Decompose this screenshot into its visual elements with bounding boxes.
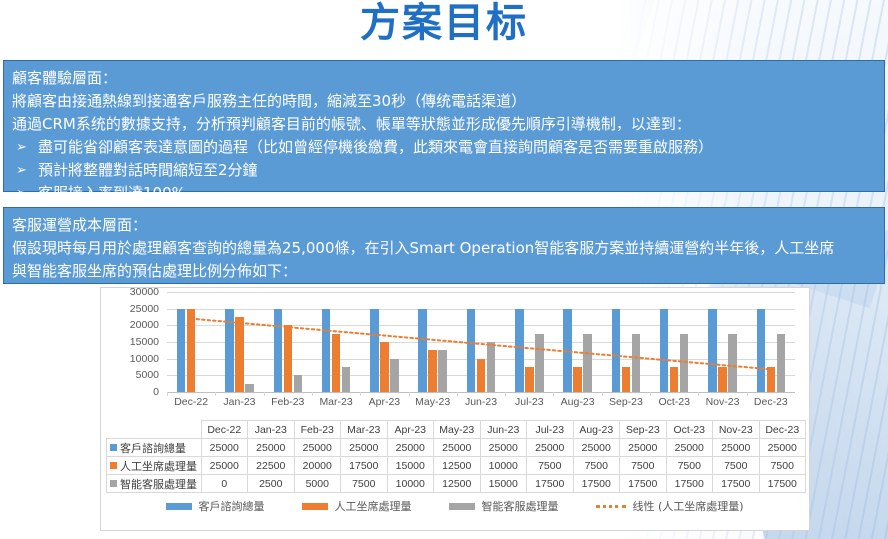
table-cell: 17500 xyxy=(341,457,388,475)
chart-bar xyxy=(612,309,621,392)
chart-x-axis-labels: Dec-22Jan-23Feb-23Mar-23Apr-23May-23Jun-… xyxy=(167,396,795,410)
chart-bar xyxy=(342,367,351,392)
operating-cost-line-1: 假設現時每月用於處理顧客查詢的總量為25,000條，在引入Smart Opera… xyxy=(12,237,876,260)
chart-plot-area: 050001000015000200002500030000 xyxy=(101,292,809,404)
table-cell: 7500 xyxy=(341,475,388,493)
table-column-header: Aug-23 xyxy=(573,421,620,439)
legend-item-label: 智能客服處理量 xyxy=(481,498,558,514)
table-cell: 25000 xyxy=(341,439,388,457)
chart-bar xyxy=(680,334,689,392)
table-cell: 7500 xyxy=(759,457,806,475)
chart-bar xyxy=(390,359,399,392)
table-cell: 17500 xyxy=(620,475,667,493)
y-axis-tick-label: 10000 xyxy=(130,353,159,365)
arrow-bullet-icon: ➢ xyxy=(12,159,38,182)
table-row: 客戶諮詢總量2500025000250002500025000250002500… xyxy=(107,439,806,457)
chart-bar xyxy=(670,367,679,392)
chart-data-table: Dec-22Jan-23Feb-23Mar-23Apr-23May-23Jun-… xyxy=(106,420,806,493)
series-color-swatch-icon xyxy=(110,462,117,469)
chart-data-table-body: Dec-22Jan-23Feb-23Mar-23Apr-23May-23Jun-… xyxy=(107,421,806,493)
customer-experience-bullet-1-label: 盡可能省卻顧客表達意圖的過程（比如曾經停機後繳費，此類來電會直接詢問顧客是否需要… xyxy=(38,136,713,159)
table-cell: 15000 xyxy=(480,475,527,493)
customer-experience-line-1: 將顧客由接通熱線到接通客戶服務主任的時間，縮減至30秒（傳统電話渠道） xyxy=(12,90,876,113)
chart-category-group xyxy=(360,292,408,392)
table-cell: 25000 xyxy=(434,439,481,457)
customer-experience-box: 顧客體驗層面： 將顧客由接通熱線到接通客戶服務主任的時間，縮減至30秒（傳统電話… xyxy=(3,60,885,192)
legend-dotted-line-icon xyxy=(596,505,626,508)
table-column-header: Feb-23 xyxy=(294,421,341,439)
table-column-header: Oct-23 xyxy=(666,421,713,439)
table-cell: 25000 xyxy=(713,439,760,457)
table-cell: 17500 xyxy=(666,475,713,493)
chart-bar xyxy=(225,309,234,392)
x-axis-tick-label: Jul-23 xyxy=(505,396,553,408)
operating-cost-line-2: 與智能客服坐席的預估處理比例分佈如下： xyxy=(12,260,876,283)
table-cell: 25000 xyxy=(294,439,341,457)
arrow-bullet-icon: ➢ xyxy=(12,182,38,205)
chart-category-group xyxy=(505,292,553,392)
x-axis-tick-label: Feb-23 xyxy=(264,396,312,408)
customer-experience-heading: 顧客體驗層面： xyxy=(12,67,876,90)
x-axis-tick-label: May-23 xyxy=(409,396,457,408)
legend-item-label: 客戶諮詢總量 xyxy=(198,498,264,514)
table-cell: 10000 xyxy=(387,475,434,493)
chart-category-group xyxy=(698,292,746,392)
table-column-header: Dec-23 xyxy=(759,421,806,439)
y-axis-tick-label: 20000 xyxy=(130,319,159,331)
table-cell: 25000 xyxy=(759,439,806,457)
customer-experience-bullet-2-label: 預計將整體對話時間縮短至2分鐘 xyxy=(38,159,258,182)
legend-item[interactable]: 智能客服處理量 xyxy=(449,498,558,514)
chart-bar xyxy=(515,309,524,392)
chart-bar xyxy=(467,309,476,392)
chart-bar xyxy=(438,350,447,392)
table-cell: 25000 xyxy=(620,439,667,457)
table-cell: 25000 xyxy=(201,439,248,457)
chart-bar xyxy=(535,334,544,392)
table-cell: 7500 xyxy=(527,457,574,475)
chart-bar xyxy=(187,309,196,392)
x-axis-tick-label: Oct-23 xyxy=(650,396,698,408)
chart-category-group xyxy=(602,292,650,392)
chart-category-group xyxy=(409,292,457,392)
chart-bar xyxy=(767,367,776,392)
legend-item-label: 线性 (人工坐席處理量) xyxy=(632,498,743,514)
table-cell: 5000 xyxy=(294,475,341,493)
table-cell: 17500 xyxy=(713,475,760,493)
chart-category-group xyxy=(167,292,215,392)
table-cell: 12500 xyxy=(434,475,481,493)
table-cell: 17500 xyxy=(573,475,620,493)
table-cell: 7500 xyxy=(573,457,620,475)
series-color-swatch-icon xyxy=(110,480,117,487)
table-cell: 2500 xyxy=(248,475,295,493)
chart-bar xyxy=(235,317,244,392)
table-column-header: Dec-22 xyxy=(201,421,248,439)
chart-y-axis: 050001000015000200002500030000 xyxy=(101,292,163,392)
table-cell: 25000 xyxy=(201,457,248,475)
table-cell: 7500 xyxy=(713,457,760,475)
legend-color-key-icon xyxy=(166,503,192,510)
table-cell: 25000 xyxy=(480,439,527,457)
table-column-header: Sep-23 xyxy=(620,421,667,439)
table-row-label: 智能客服處理量 xyxy=(120,478,197,491)
table-cell: 17500 xyxy=(759,475,806,493)
x-axis-tick-label: Jan-23 xyxy=(215,396,263,408)
legend-item[interactable]: 客戶諮詢總量 xyxy=(166,498,264,514)
table-column-header: Mar-23 xyxy=(341,421,388,439)
chart-bar xyxy=(245,384,254,392)
table-column-header: Jun-23 xyxy=(480,421,527,439)
chart-bar xyxy=(284,325,293,392)
chart-category-group xyxy=(747,292,795,392)
page-title: 方案目标 xyxy=(0,0,888,52)
table-column-header: Apr-23 xyxy=(387,421,434,439)
x-axis-tick-label: Nov-23 xyxy=(698,396,746,408)
chart-bar xyxy=(660,309,669,392)
chart-bar xyxy=(777,334,786,392)
table-row-label: 客戶諮詢總量 xyxy=(120,442,186,455)
y-axis-tick-label: 15000 xyxy=(130,336,159,348)
chart-bar xyxy=(477,359,486,392)
chart-bar xyxy=(708,309,717,392)
table-column-header: Jan-23 xyxy=(248,421,295,439)
chart-category-group xyxy=(457,292,505,392)
operating-cost-box: 客服運營成本層面： 假設現時每月用於處理顧客查詢的總量為25,000條，在引入S… xyxy=(3,207,885,284)
x-axis-tick-label: Mar-23 xyxy=(312,396,360,408)
chart-bar xyxy=(563,309,572,392)
table-cell: 25000 xyxy=(573,439,620,457)
y-axis-tick-label: 5000 xyxy=(136,369,159,381)
table-row-label: 人工坐席處理量 xyxy=(120,460,197,473)
table-row-header: 客戶諮詢總量 xyxy=(107,439,202,457)
table-cell: 10000 xyxy=(480,457,527,475)
table-header-row: Dec-22Jan-23Feb-23Mar-23Apr-23May-23Jun-… xyxy=(107,421,806,439)
table-cell: 25000 xyxy=(527,439,574,457)
y-axis-tick-label: 0 xyxy=(153,386,159,398)
chart-bar xyxy=(418,309,427,392)
customer-experience-bullet-1: ➢ 盡可能省卻顧客表達意圖的過程（比如曾經停機後繳費，此類來電會直接詢問顧客是否… xyxy=(12,136,876,159)
table-column-header: May-23 xyxy=(434,421,481,439)
chart-bar xyxy=(525,367,534,392)
operating-cost-heading: 客服運營成本層面： xyxy=(12,214,876,237)
x-axis-tick-label: Sep-23 xyxy=(602,396,650,408)
chart-bar xyxy=(177,309,186,392)
chart-panel[interactable]: 050001000015000200002500030000 Dec-22Jan… xyxy=(100,287,810,531)
legend-item-trendline[interactable]: 线性 (人工坐席處理量) xyxy=(596,498,743,514)
chart-category-group xyxy=(264,292,312,392)
table-row: 智能客服處理量025005000750010000125001500017500… xyxy=(107,475,806,493)
chart-bar xyxy=(294,375,303,392)
table-cell: 25000 xyxy=(387,439,434,457)
chart-legend: 客戶諮詢總量人工坐席處理量智能客服處理量线性 (人工坐席處理量) xyxy=(101,496,809,516)
x-axis-tick-label: Dec-23 xyxy=(747,396,795,408)
table-cell: 12500 xyxy=(434,457,481,475)
chart-bar xyxy=(632,334,641,392)
x-axis-tick-label: Apr-23 xyxy=(360,396,408,408)
y-axis-tick-label: 25000 xyxy=(130,303,159,315)
table-column-header: Nov-23 xyxy=(713,421,760,439)
legend-item-label: 人工坐席處理量 xyxy=(334,498,411,514)
chart-bar xyxy=(380,342,389,392)
chart-bar xyxy=(428,350,437,392)
chart-category-group xyxy=(312,292,360,392)
chart-bar xyxy=(573,367,582,392)
chart-bar xyxy=(728,334,737,392)
chart-bar xyxy=(370,309,379,392)
table-cell: 20000 xyxy=(294,457,341,475)
chart-category-group xyxy=(215,292,263,392)
x-axis-tick-label: Jun-23 xyxy=(457,396,505,408)
chart-bar xyxy=(718,367,727,392)
customer-experience-line-2: 通過CRM系统的數據支持，分析預判顧客目前的帳號、帳單等狀態並形成優先順序引導機… xyxy=(12,113,876,136)
chart-bar xyxy=(757,309,766,392)
chart-bar xyxy=(487,342,496,392)
table-row-header: 人工坐席處理量 xyxy=(107,457,202,475)
chart-category-group xyxy=(650,292,698,392)
table-cell: 15000 xyxy=(387,457,434,475)
chart-bar xyxy=(274,309,283,392)
table-cell: 7500 xyxy=(666,457,713,475)
chart-bar xyxy=(583,334,592,392)
chart-plot xyxy=(167,292,795,392)
table-row-header: 智能客服處理量 xyxy=(107,475,202,493)
table-cell: 0 xyxy=(201,475,248,493)
legend-color-key-icon xyxy=(302,503,328,510)
arrow-bullet-icon: ➢ xyxy=(12,136,38,159)
y-axis-tick-label: 30000 xyxy=(130,286,159,298)
table-cell: 25000 xyxy=(248,439,295,457)
x-axis-tick-label: Aug-23 xyxy=(553,396,601,408)
chart-bar xyxy=(322,309,331,392)
chart-category-group xyxy=(553,292,601,392)
table-cell: 17500 xyxy=(527,475,574,493)
table-corner-cell xyxy=(107,421,202,439)
legend-color-key-icon xyxy=(449,503,475,510)
chart-bar xyxy=(622,367,631,392)
table-cell: 25000 xyxy=(666,439,713,457)
chart-bar xyxy=(332,334,341,392)
legend-item[interactable]: 人工坐席處理量 xyxy=(302,498,411,514)
table-cell: 7500 xyxy=(620,457,667,475)
customer-experience-bullet-2: ➢ 預計將整體對話時間縮短至2分鐘 xyxy=(12,159,876,182)
chart-gridline xyxy=(167,392,795,393)
table-row: 人工坐席處理量250002250020000175001500012500100… xyxy=(107,457,806,475)
x-axis-tick-label: Dec-22 xyxy=(167,396,215,408)
series-color-swatch-icon xyxy=(110,444,117,451)
customer-experience-bullet-3-label: 客服接入率到達100% xyxy=(38,182,186,205)
table-cell: 22500 xyxy=(248,457,295,475)
customer-experience-bullet-3: ➢ 客服接入率到達100% xyxy=(12,182,876,205)
table-column-header: Jul-23 xyxy=(527,421,574,439)
